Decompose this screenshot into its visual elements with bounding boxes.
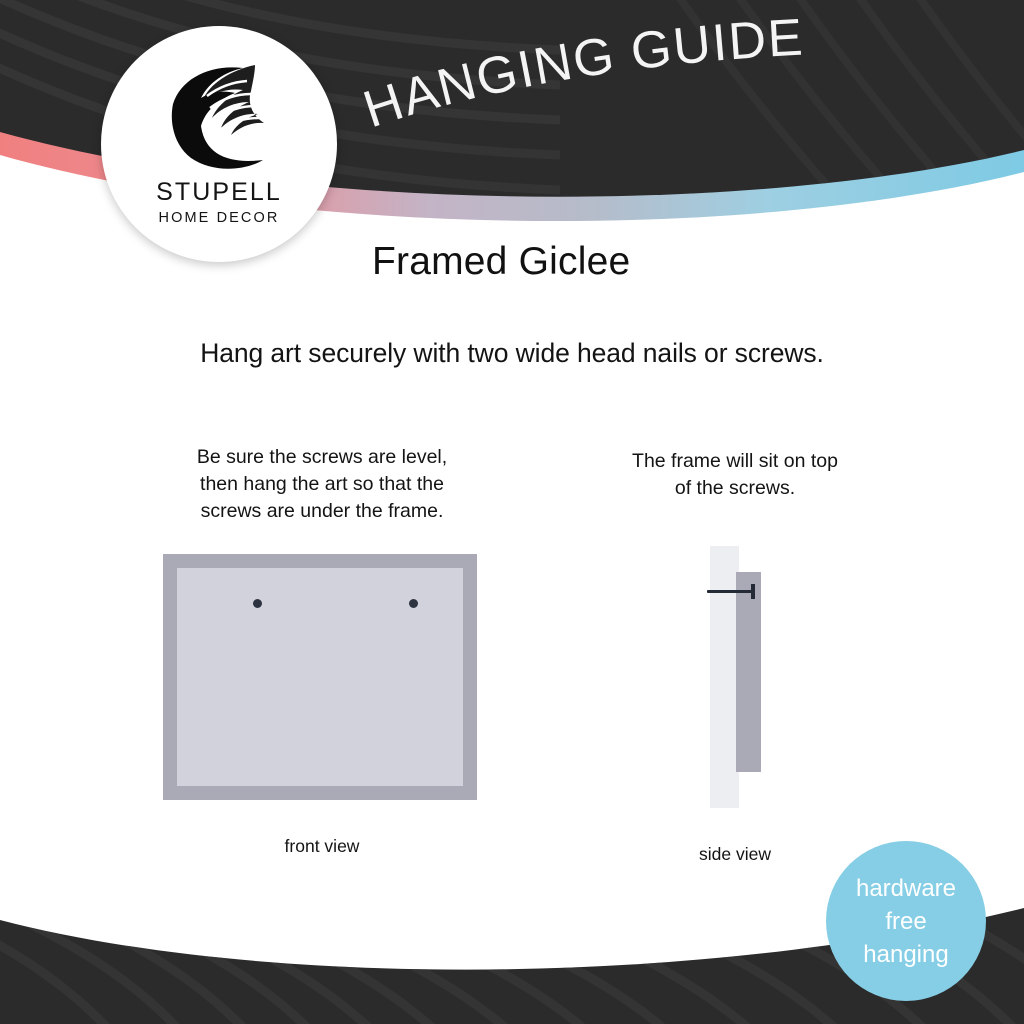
wall-strip [710, 546, 739, 808]
badge-line-2: free [885, 905, 926, 938]
page-title-label: HANGING GUIDE [357, 9, 806, 140]
side-caption-line-2: of the screws. [570, 475, 900, 502]
hardware-free-hanging-badge: hardware free hanging [826, 841, 986, 1001]
page-title-text: HANGING GUIDE [357, 9, 806, 140]
front-caption-line-2: then hang the art so that the [120, 471, 524, 498]
page-title: HANGING GUIDE [365, 44, 885, 140]
badge-line-1: hardware [856, 872, 956, 905]
logo-name: STUPELL [156, 178, 282, 207]
front-caption-line-1: Be sure the screws are level, [120, 444, 524, 471]
frame-strip [736, 572, 761, 772]
hanging-guide-page: STUPELL HOME DECOR HANGING GUIDE Framed … [0, 0, 1024, 1024]
side-caption-line-1: The frame will sit on top [570, 448, 900, 475]
front-view-frame-diagram [163, 554, 477, 800]
front-view-caption: Be sure the screws are level, then hang … [120, 444, 524, 525]
nail-head-icon [751, 584, 755, 599]
frame-mat-area [177, 568, 463, 786]
side-view-caption: The frame will sit on top of the screws. [570, 448, 900, 502]
main-instruction: Hang art securely with two wide head nai… [0, 338, 1024, 369]
side-view-frame-diagram [700, 546, 780, 808]
badge-line-3: hanging [863, 938, 948, 971]
screw-dot-right-icon [409, 599, 418, 608]
product-title: Framed Giclee [372, 240, 630, 284]
nail-shaft-icon [707, 590, 755, 593]
stupell-swirl-icon [159, 56, 279, 174]
front-view-label: front view [120, 836, 524, 857]
logo-subtitle: HOME DECOR [159, 210, 280, 226]
stupell-logo-badge: STUPELL HOME DECOR [101, 26, 337, 262]
screw-dot-left-icon [253, 599, 262, 608]
front-caption-line-3: screws are under the frame. [120, 498, 524, 525]
